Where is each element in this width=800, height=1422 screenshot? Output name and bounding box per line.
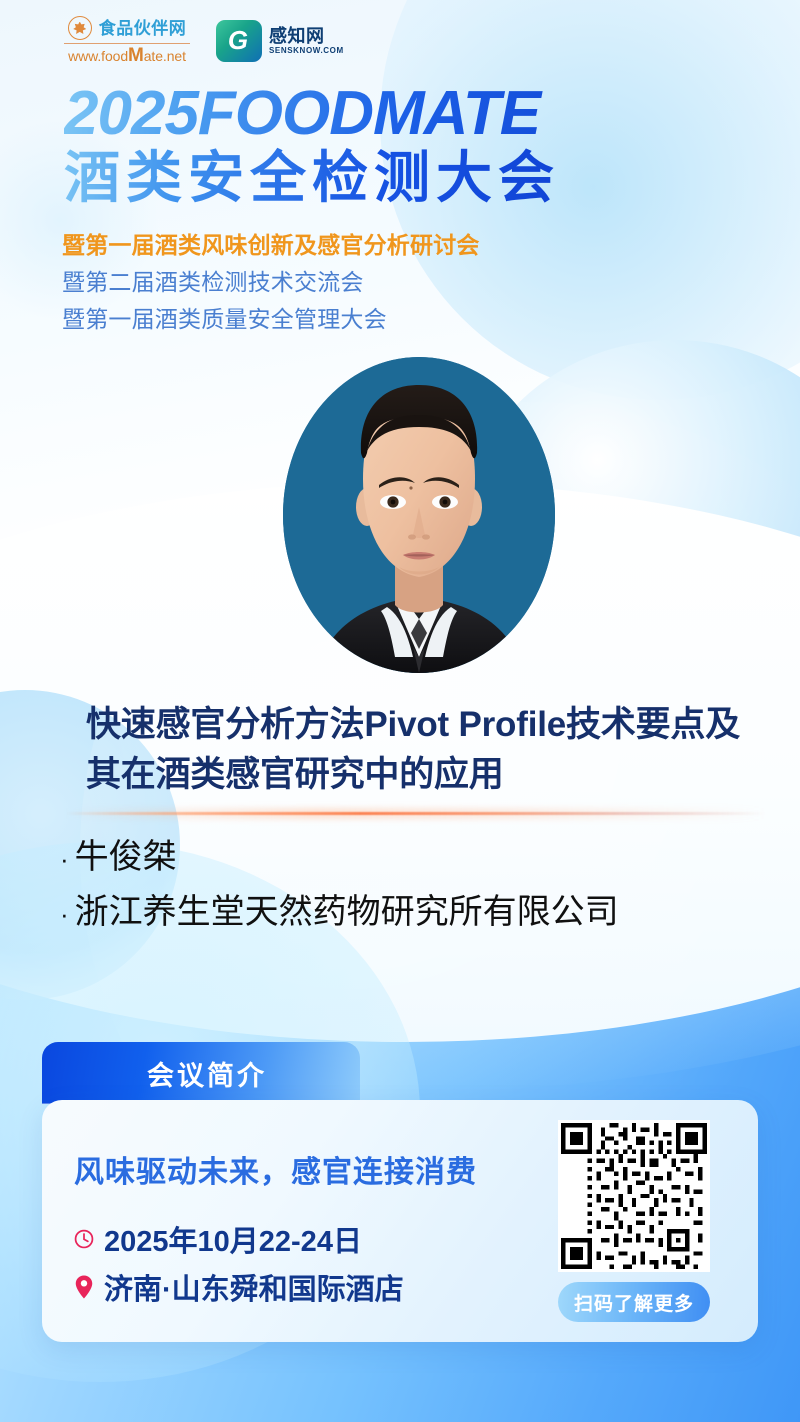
talk-title: 快速感官分析方法Pivot Profile技术要点及其在酒类感官研究中的应用 bbox=[86, 700, 766, 799]
meeting-location: 济南·山东舜和国际酒店 bbox=[104, 1266, 404, 1308]
meeting-location-row: 济南·山东舜和国际酒店 bbox=[72, 1266, 404, 1308]
speaker-name-row: · 牛俊桀 bbox=[60, 830, 780, 885]
section-tab-label: 会议简介 bbox=[147, 1054, 267, 1093]
foodmate-cn-name: 食品伙伴网 bbox=[99, 20, 187, 37]
title-chinese: 酒类安全检测大会 bbox=[64, 147, 764, 209]
scan-more-label: 扫码了解更多 bbox=[574, 1289, 694, 1316]
section-tab[interactable]: 会议简介 bbox=[42, 1042, 360, 1104]
subtitle-line-2: 暨第二届酒类检测技术交流会 bbox=[62, 264, 480, 301]
sensknow-en-name: SENSKNOW.COM bbox=[269, 47, 344, 55]
foodmate-url: www.foodMate.net bbox=[68, 46, 186, 65]
foodmate-divider bbox=[64, 43, 190, 44]
foodmate-logo-top: 食品伙伴网 bbox=[68, 16, 187, 40]
map-pin-icon bbox=[72, 1275, 95, 1300]
foodmate-url-bigm: M bbox=[128, 45, 144, 66]
title-english: 2025FOODMATE bbox=[64, 82, 764, 145]
bullet-icon: · bbox=[60, 893, 69, 935]
sensknow-text-block: 感知网 SENSKNOW.COM bbox=[269, 27, 344, 55]
qr-code[interactable] bbox=[558, 1120, 710, 1272]
foodmate-url-suffix: ate.net bbox=[144, 48, 186, 64]
speaker-name: 牛俊桀 bbox=[75, 830, 177, 885]
section-divider bbox=[66, 812, 766, 815]
bullet-icon: · bbox=[60, 838, 69, 880]
flower-mark-icon bbox=[68, 16, 92, 40]
speaker-info: · 牛俊桀 · 浙江养生堂天然药物研究所有限公司 bbox=[60, 830, 780, 940]
foodmate-logo[interactable]: 食品伙伴网 www.foodMate.net bbox=[64, 16, 190, 65]
meeting-slogan: 风味驱动未来，感官连接消费 bbox=[74, 1147, 477, 1191]
gz-monogram-letter: G bbox=[228, 27, 248, 53]
foodmate-url-prefix: www.food bbox=[68, 48, 128, 64]
speaker-affiliation-row: · 浙江养生堂天然药物研究所有限公司 bbox=[60, 885, 780, 940]
gz-monogram-icon: G bbox=[216, 20, 262, 62]
qr-section: 扫码了解更多 bbox=[558, 1120, 710, 1322]
subtitle-line-1: 暨第一届酒类风味创新及感官分析研讨会 bbox=[62, 228, 480, 264]
speaker-portrait bbox=[283, 357, 555, 673]
speaker-affiliation: 浙江养生堂天然药物研究所有限公司 bbox=[75, 885, 619, 940]
scan-more-button[interactable]: 扫码了解更多 bbox=[558, 1282, 710, 1322]
meeting-info-card: 风味驱动未来，感官连接消费 2025年10月22-24日 bbox=[42, 1100, 758, 1342]
page-title: 2025FOODMATE 酒类安全检测大会 bbox=[64, 82, 764, 209]
subtitle-line-3: 暨第一届酒类质量安全管理大会 bbox=[62, 301, 480, 338]
meeting-date-row: 2025年10月22-24日 bbox=[72, 1218, 404, 1260]
meeting-meta: 2025年10月22-24日 济南·山东舜和国际酒店 bbox=[72, 1218, 404, 1314]
sensknow-cn-name: 感知网 bbox=[269, 27, 344, 45]
subtitle-list: 暨第一届酒类风味创新及感官分析研讨会 暨第二届酒类检测技术交流会 暨第一届酒类质… bbox=[62, 228, 480, 338]
meeting-date: 2025年10月22-24日 bbox=[104, 1218, 362, 1260]
logo-row: 食品伙伴网 www.foodMate.net G 感知网 SENSKNOW.CO… bbox=[64, 16, 344, 65]
clock-icon bbox=[72, 1227, 95, 1252]
sensknow-logo[interactable]: G 感知网 SENSKNOW.COM bbox=[216, 20, 344, 62]
conference-poster: 食品伙伴网 www.foodMate.net G 感知网 SENSKNOW.CO… bbox=[0, 0, 800, 1422]
